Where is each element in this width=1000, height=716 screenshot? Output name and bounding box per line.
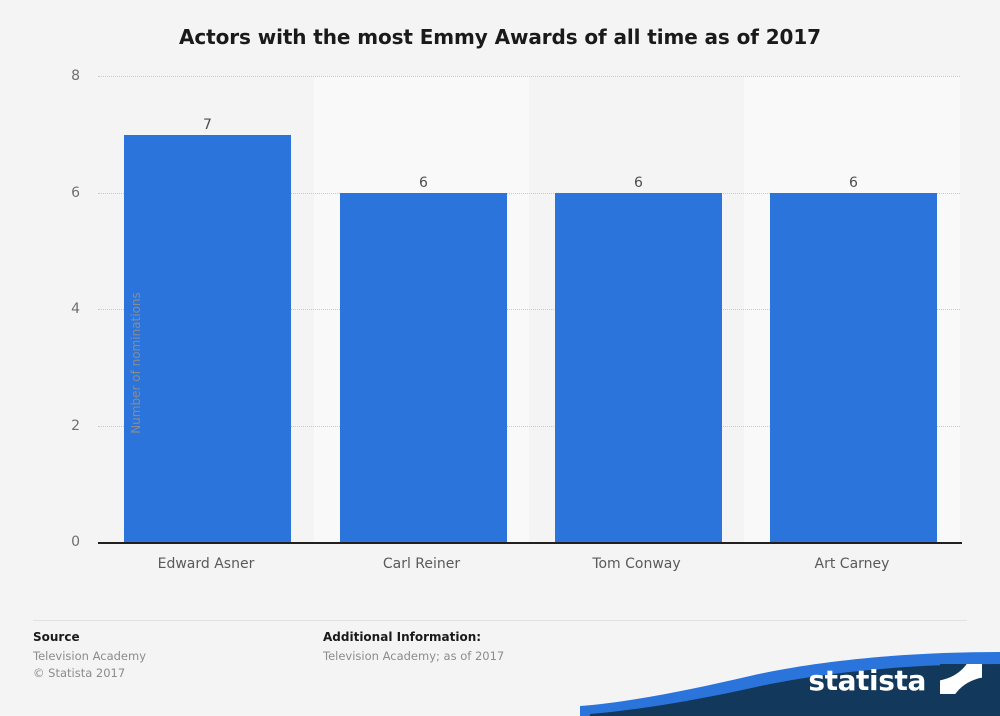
x-tick-label-carl-reiner: Carl Reiner bbox=[314, 556, 529, 572]
bar-value-label: 7 bbox=[124, 117, 291, 133]
source-heading: Source bbox=[33, 630, 313, 644]
x-tick-label-edward-asner: Edward Asner bbox=[98, 556, 314, 572]
bar-carl-reiner[interactable] bbox=[340, 193, 507, 543]
y-tick-label-6: 6 bbox=[20, 185, 80, 201]
bar-value-label: 6 bbox=[340, 175, 507, 191]
y-tick-label-8: 8 bbox=[20, 68, 80, 84]
gridline-8 bbox=[98, 76, 960, 77]
statista-wordmark: statista bbox=[808, 664, 926, 697]
source-line: Television Academy bbox=[33, 648, 313, 665]
footer-divider bbox=[33, 620, 967, 621]
bar-tom-conway[interactable] bbox=[555, 193, 722, 543]
statista-chart: Actors with the most Emmy Awards of all … bbox=[0, 0, 1000, 716]
bar-value-label: 6 bbox=[555, 175, 722, 191]
copyright-line: © Statista 2017 bbox=[33, 665, 313, 682]
bar-value-label: 6 bbox=[770, 175, 937, 191]
x-tick-label-art-carney: Art Carney bbox=[744, 556, 960, 572]
statista-logo[interactable]: statista bbox=[580, 630, 1000, 716]
y-tick-label-0: 0 bbox=[20, 534, 80, 550]
x-axis-line bbox=[98, 542, 962, 544]
plot-area: 7 6 6 6 Number of nominations bbox=[98, 76, 960, 543]
chart-footer: Source Television Academy © Statista 201… bbox=[0, 600, 1000, 716]
chart-title: Actors with the most Emmy Awards of all … bbox=[0, 25, 1000, 49]
y-tick-label-2: 2 bbox=[20, 418, 80, 434]
footer-source-block: Source Television Academy © Statista 201… bbox=[33, 630, 313, 682]
bar-art-carney[interactable] bbox=[770, 193, 937, 543]
y-axis-title: Number of nominations bbox=[129, 263, 143, 463]
statista-swoosh-icon bbox=[940, 664, 982, 694]
bar-edward-asner[interactable] bbox=[124, 135, 291, 543]
x-tick-label-tom-conway: Tom Conway bbox=[529, 556, 744, 572]
y-tick-label-4: 4 bbox=[20, 301, 80, 317]
